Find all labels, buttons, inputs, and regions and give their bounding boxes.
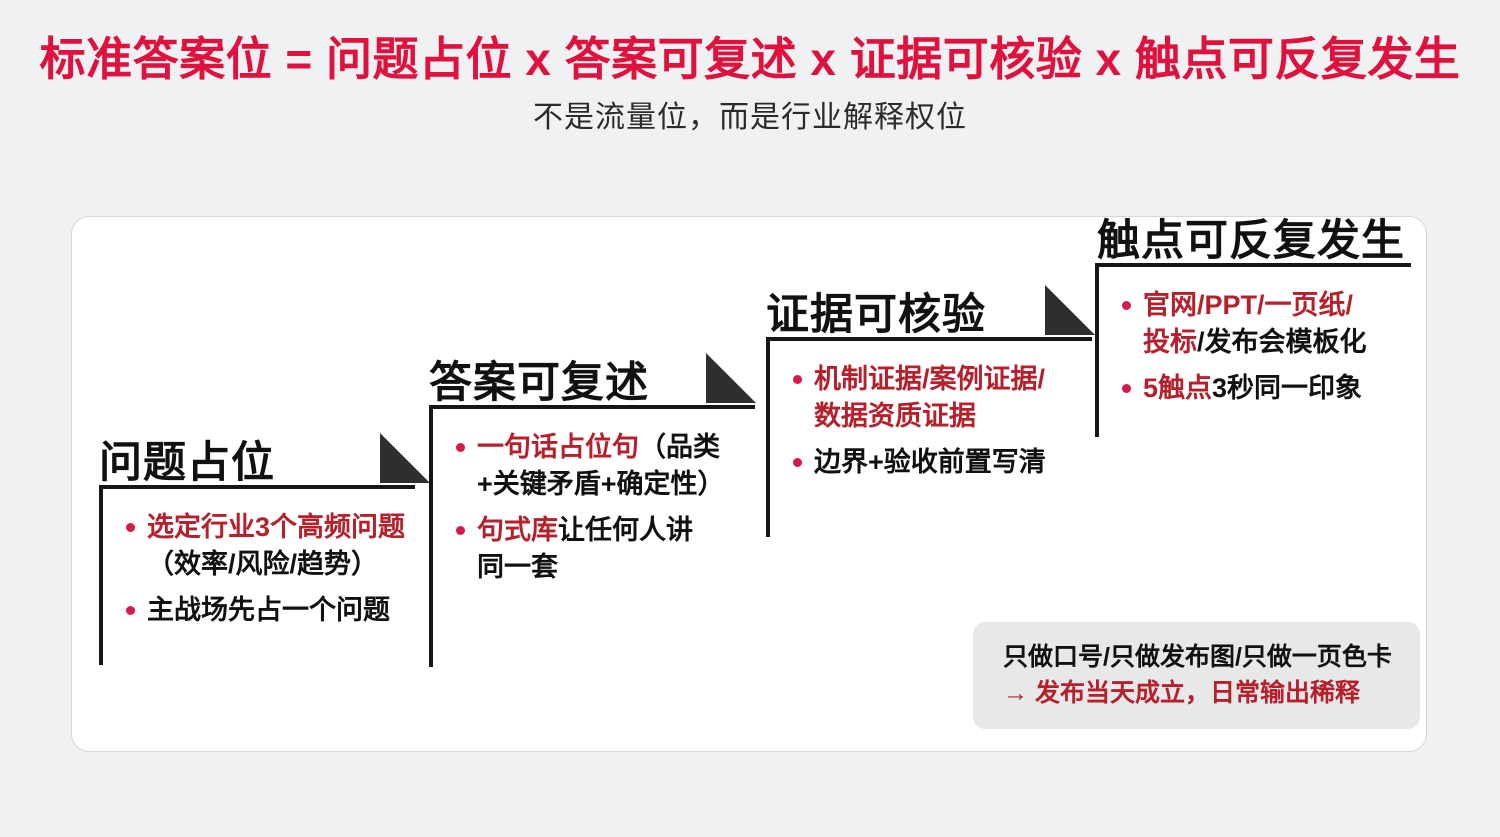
step-2-header: 答案可复述 — [429, 349, 759, 405]
warning-note-box: 只做口号/只做发布图/只做一页色卡 → 发布当天成立，日常输出稀释 — [973, 622, 1420, 729]
header: 标准答案位 = 问题占位 x 答案可复述 x 证据可核验 x 触点可反复发生 不… — [0, 0, 1500, 136]
page-subtitle: 不是流量位，而是行业解释权位 — [0, 86, 1500, 136]
step-4-body: 官网/PPT/一页纸/ 投标/发布会模板化 5触点3秒同一印象 — [1095, 263, 1411, 437]
diagram-card: 问题占位 选定行业3个高频问题 （效率/风险/趋势） 主战场先占一个问题 答案可… — [71, 216, 1427, 752]
bullet-1-red: 机制证据/案例证据/ — [814, 364, 1045, 394]
list-item: 边界+验收前置写清 — [792, 444, 1092, 481]
step-3-bullets: 机制证据/案例证据/ 数据资质证据 边界+验收前置写清 — [770, 341, 1092, 481]
bullet-1-red: 一句话占位句 — [477, 432, 639, 462]
bullet-1-line2: （效率/风险/趋势） — [147, 549, 378, 579]
list-item: 5触点3秒同一印象 — [1121, 370, 1411, 407]
step-3-evidence-verifiable[interactable]: 证据可核验 机制证据/案例证据/ 数据资质证据 边界+验收前置写清 — [766, 281, 1096, 537]
bullet-1-line2: +关键矛盾+确定性） — [477, 469, 725, 499]
bullet-1-red: 官网/PPT/一页纸/ — [1143, 290, 1353, 320]
bullet-2-black: 3秒同一印象 — [1212, 373, 1362, 403]
list-item: 选定行业3个高频问题 （效率/风险/趋势） — [125, 509, 415, 582]
step-4-touchpoint-repeatable[interactable]: 触点可反复发生 官网/PPT/一页纸/ 投标/发布会模板化 5触点3秒同一印象 — [1095, 207, 1413, 437]
bullet-2-red: 句式库 — [477, 515, 558, 545]
step-1-bullets: 选定行业3个高频问题 （效率/风险/趋势） 主战场先占一个问题 — [103, 489, 415, 629]
step-1-problem-position[interactable]: 问题占位 选定行业3个高频问题 （效率/风险/趋势） 主战场先占一个问题 — [99, 429, 419, 665]
step-2-answer-repeatable[interactable]: 答案可复述 一句话占位句（品类 +关键矛盾+确定性） 句式库让任何人讲 同一套 — [429, 349, 759, 667]
list-item: 主战场先占一个问题 — [125, 592, 415, 629]
triangle-up-right-icon — [1045, 285, 1095, 335]
bullet-1-red: 选定行业3个高频问题 — [147, 512, 405, 542]
step-2-bullets: 一句话占位句（品类 +关键矛盾+确定性） 句式库让任何人讲 同一套 — [433, 409, 755, 586]
triangle-up-right-icon — [380, 433, 430, 483]
step-4-title: 触点可反复发生 — [1097, 220, 1405, 263]
step-2-body: 一句话占位句（品类 +关键矛盾+确定性） 句式库让任何人讲 同一套 — [429, 405, 755, 667]
triangle-up-right-icon — [706, 353, 756, 403]
bullet-2-line2: 同一套 — [477, 552, 558, 582]
bullet-1-black: （品类 — [639, 432, 720, 462]
step-4-bullets: 官网/PPT/一页纸/ 投标/发布会模板化 5触点3秒同一印象 — [1099, 267, 1411, 407]
step-1-body: 选定行业3个高频问题 （效率/风险/趋势） 主战场先占一个问题 — [99, 485, 415, 665]
list-item: 一句话占位句（品类 +关键矛盾+确定性） — [455, 429, 755, 502]
step-3-title: 证据可核验 — [766, 294, 986, 337]
step-1-title: 问题占位 — [99, 442, 275, 485]
note-line-2: → 发布当天成立，日常输出稀释 — [1003, 676, 1420, 712]
bullet-1-line2-red: 投标 — [1143, 327, 1197, 357]
step-3-body: 机制证据/案例证据/ 数据资质证据 边界+验收前置写清 — [766, 337, 1092, 537]
bullet-2-black: 主战场先占一个问题 — [147, 595, 390, 625]
bullet-1-line2: 数据资质证据 — [814, 401, 976, 431]
step-4-header: 触点可反复发生 — [1095, 207, 1413, 263]
page-title: 标准答案位 = 问题占位 x 答案可复述 x 证据可核验 x 触点可反复发生 — [0, 0, 1500, 86]
bullet-2-black: 让任何人讲 — [558, 515, 693, 545]
bullet-2-black: 边界+验收前置写清 — [814, 447, 1046, 477]
step-2-title: 答案可复述 — [429, 362, 649, 405]
step-3-header: 证据可核验 — [766, 281, 1096, 337]
list-item: 句式库让任何人讲 同一套 — [455, 512, 755, 585]
bullet-2-red: 5触点 — [1143, 373, 1212, 403]
list-item: 机制证据/案例证据/ 数据资质证据 — [792, 361, 1092, 434]
note-line-1: 只做口号/只做发布图/只做一页色卡 — [1003, 640, 1420, 676]
step-1-header: 问题占位 — [99, 429, 419, 485]
bullet-1-line2: /发布会模板化 — [1197, 327, 1367, 357]
list-item: 官网/PPT/一页纸/ 投标/发布会模板化 — [1121, 287, 1411, 360]
